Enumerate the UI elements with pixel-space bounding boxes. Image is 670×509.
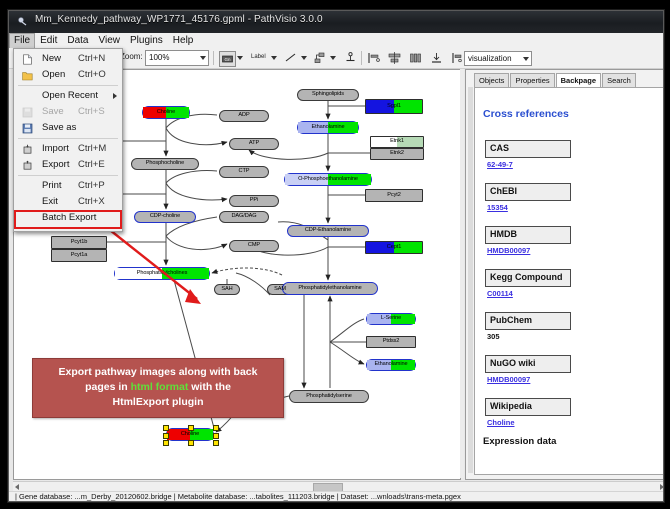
new-document-icon — [22, 54, 33, 65]
save-as-icon — [22, 123, 33, 134]
xref-db-label: ChEBI — [490, 186, 517, 196]
metabolite-node-sphingolipids[interactable]: Sphingolipids — [297, 89, 359, 101]
scroll-left-icon[interactable] — [15, 484, 19, 490]
interaction-tool-icon[interactable] — [312, 51, 327, 65]
node-label: Pcyt2 — [387, 193, 401, 199]
file-menu-popup: NewCtrl+NOpenCtrl+OOpen RecentSaveCtrl+S… — [13, 48, 123, 232]
metabolite-node-phosphocholine[interactable]: Phosphocholine — [131, 158, 199, 170]
menu-data[interactable]: Data — [62, 33, 93, 48]
zoom-value: 100% — [149, 53, 169, 62]
metabolite-node-ethanolamine2[interactable]: Ethanolamine — [366, 359, 416, 371]
menu-help[interactable]: Help — [168, 33, 199, 48]
label-dropdown-icon[interactable] — [271, 56, 277, 60]
metabolite-node-ctp[interactable]: CTP — [219, 166, 269, 178]
xref-value-pubchem: 305 — [487, 332, 500, 341]
menu-file[interactable]: File — [9, 33, 35, 48]
file-menu-item-export[interactable]: ExportCtrl+E — [14, 157, 122, 173]
file-menu-label: Batch Export — [42, 212, 96, 223]
backpage-content: Cross references CAS62-49-7ChEBI15354HMD… — [474, 87, 664, 475]
zoom-label: Zoom: — [120, 52, 143, 61]
metabolite-node-cdp-choline[interactable]: CDP-choline — [134, 211, 196, 223]
callout-line-2a: pages in — [85, 381, 131, 393]
file-menu-label: Open Recent — [42, 90, 98, 101]
group-icon[interactable] — [449, 51, 464, 65]
gene-node-pcyt2[interactable]: Pcyt2 — [365, 189, 423, 202]
visualization-combo[interactable]: visualization — [464, 51, 532, 66]
selection-handle[interactable] — [213, 425, 219, 431]
menu-plugins[interactable]: Plugins — [125, 33, 168, 48]
align-left-icon[interactable] — [366, 51, 381, 65]
chevron-down-icon — [200, 56, 206, 60]
import-icon — [22, 144, 33, 155]
export-icon — [22, 160, 33, 171]
xref-db-chebi: ChEBI — [485, 183, 571, 201]
file-menu-label: Import — [42, 143, 69, 154]
xref-value-chebi[interactable]: 15354 — [487, 203, 508, 212]
node-label: PPi — [250, 198, 258, 204]
node-label: Pcyt1b — [71, 240, 88, 246]
metabolite-node-phosphatidylserine[interactable]: Phosphatidylserine — [289, 390, 369, 403]
chevron-down-icon-2 — [523, 57, 529, 61]
node-label: Choline — [181, 432, 199, 438]
gene-node-etnk1[interactable]: Etnk1 — [370, 136, 424, 148]
node-label: Choline — [157, 110, 175, 116]
node-label: Phosphatidylserine — [306, 394, 351, 400]
node-label: CMP — [248, 243, 260, 249]
node-label: SAM — [274, 287, 286, 293]
gene-node-cept1[interactable]: Cept1 — [365, 241, 423, 254]
callout-line-3: HtmlExport plugin — [113, 396, 204, 408]
expression-data-heading: Expression data — [483, 436, 556, 447]
anchor-tool-icon[interactable] — [343, 51, 358, 65]
save-icon — [22, 107, 33, 118]
annotation-callout-text: Export pathway images along with back pa… — [39, 365, 277, 410]
node-label: Phosphatidylethanolamine — [298, 286, 361, 292]
gene-node-sgpl1[interactable]: Sgpl1 — [365, 99, 423, 114]
xref-value-kegg-compound[interactable]: C00114 — [487, 289, 513, 298]
file-menu-accelerator: Ctrl+S — [78, 106, 105, 117]
folder-open-icon — [22, 70, 33, 81]
metabolite-node-choline-top[interactable]: Choline — [142, 106, 190, 119]
xref-db-label: PubChem — [490, 315, 532, 325]
file-menu-item-open-recent[interactable]: Open Recent — [14, 88, 122, 104]
file-menu-label: Exit — [42, 196, 58, 207]
metabolite-node-ethanolamine[interactable]: Ethanolamine — [297, 121, 359, 134]
node-label: CDP-choline — [150, 214, 180, 220]
xref-value-nugo-wiki[interactable]: HMDB00097 — [487, 375, 530, 384]
selection-handle[interactable] — [213, 440, 219, 446]
callout-line-1: Export pathway images along with back — [59, 366, 258, 378]
toolbar-separator-2 — [361, 51, 362, 65]
file-menu-item-save-as[interactable]: Save as — [14, 120, 122, 136]
node-label: CTP — [239, 169, 250, 175]
label-tool-text[interactable]: Label — [251, 54, 266, 60]
xref-db-label: NuGO wiki — [490, 358, 536, 368]
menu-separator — [18, 175, 118, 176]
pathvisio-window: Mm_Kennedy_pathway_WP1771_45176.gpml - P… — [8, 10, 664, 502]
screenshot-root: Mm_Kennedy_pathway_WP1771_45176.gpml - P… — [0, 0, 670, 509]
xref-db-nugo-wiki: NuGO wiki — [485, 355, 571, 373]
window-titlebar: Mm_Kennedy_pathway_WP1771_45176.gpml - P… — [9, 11, 663, 33]
node-label: Pcyt1a — [71, 253, 88, 259]
stack-icon[interactable] — [429, 51, 444, 65]
file-menu-items: NewCtrl+NOpenCtrl+OOpen RecentSaveCtrl+S… — [14, 51, 122, 229]
file-menu-item-save: SaveCtrl+S — [14, 104, 122, 120]
sidebar-scrollbar[interactable] — [468, 87, 473, 473]
node-label: DAG/DAG — [231, 214, 256, 220]
gene-node-pcyt1b[interactable]: Pcyt1b — [51, 236, 107, 249]
node-label: Etnk2 — [390, 151, 404, 157]
xref-db-hmdb: HMDB — [485, 226, 571, 244]
node-label: Ptdss2 — [383, 339, 400, 345]
metabolite-node-l-serine[interactable]: L-Serine — [366, 313, 416, 325]
node-label: Cept1 — [387, 245, 401, 251]
gene-node-ptdss2[interactable]: Ptdss2 — [366, 336, 416, 348]
selection-handle[interactable] — [188, 440, 194, 446]
callout-line-2b: with the — [188, 381, 231, 393]
visualization-value: visualization — [468, 54, 512, 63]
xref-db-label: Kegg Compound — [490, 272, 563, 282]
xref-db-label: CAS — [490, 143, 509, 153]
xref-db-wikipedia: Wikipedia — [485, 398, 571, 416]
metabolite-node-adp[interactable]: ADP — [219, 110, 269, 122]
file-menu-item-print[interactable]: PrintCtrl+P — [14, 178, 122, 194]
file-menu-accelerator: Ctrl+M — [78, 143, 106, 154]
zoom-combo[interactable]: 100% — [145, 50, 209, 66]
line-tool-icon[interactable] — [283, 51, 298, 65]
node-label: Ethanolamine — [374, 362, 407, 368]
metabolite-node-sah[interactable]: SAH — [214, 284, 240, 295]
status-text: | Gene database: ...m_Derby_20120602.bri… — [15, 492, 461, 501]
align-center-icon[interactable] — [387, 51, 402, 65]
file-menu-label: Export — [42, 159, 69, 170]
xref-db-cas: CAS — [485, 140, 571, 158]
split-divider[interactable] — [460, 69, 464, 478]
node-label: ADP — [238, 113, 249, 119]
status-bar: | Gene database: ...m_Derby_20120602.bri… — [9, 491, 663, 502]
menu-view[interactable]: View — [93, 33, 125, 48]
selection-handle[interactable] — [188, 425, 194, 431]
distribute-icon[interactable] — [408, 51, 423, 65]
selection-handle[interactable] — [163, 440, 169, 446]
line-dropdown-icon[interactable] — [301, 56, 307, 60]
file-menu-accelerator: Ctrl+O — [78, 69, 106, 80]
xref-db-label: HMDB — [490, 229, 517, 239]
metabolite-node-cdp-ethanolamine[interactable]: CDP-Ethanolamine — [287, 225, 369, 237]
file-menu-item-new[interactable]: NewCtrl+N — [14, 51, 122, 67]
file-menu-item-open[interactable]: OpenCtrl+O — [14, 67, 122, 83]
file-menu-accelerator: Ctrl+N — [78, 53, 105, 64]
menu-edit[interactable]: Edit — [35, 33, 62, 48]
sidebar-tabs: Objects Properties Backpage Search Legen… — [474, 73, 664, 88]
datanode-dropdown-icon[interactable] — [237, 56, 243, 60]
file-menu-label: Save — [42, 106, 64, 117]
metabolite-node-atp[interactable]: ATP — [229, 138, 279, 150]
selection-handle[interactable] — [163, 433, 169, 439]
metabolite-node-ppi[interactable]: PPi — [229, 195, 279, 207]
gene-node-etnk2[interactable]: Etnk2 — [370, 148, 424, 160]
toolbar-separator — [213, 51, 214, 65]
xref-value-hmdb[interactable]: HMDB00097 — [487, 246, 530, 255]
xref-value-cas[interactable]: 62-49-7 — [487, 160, 513, 169]
chevron-right-icon — [113, 93, 117, 99]
svg-text:Gn: Gn — [224, 57, 231, 62]
metabolite-node-o-phosphoethanolamine[interactable]: O-Phosphoethanolamine — [284, 173, 372, 186]
callout-line-2-highlight: html format — [131, 381, 189, 393]
cross-references-heading: Cross references — [483, 108, 569, 120]
menu-separator — [18, 138, 118, 139]
menu-separator — [18, 85, 118, 86]
file-menu-accelerator: Ctrl+X — [78, 196, 105, 207]
selection-handle[interactable] — [163, 425, 169, 431]
node-label: O-Phosphoethanolamine — [298, 177, 358, 183]
xref-db-pubchem: PubChem — [485, 312, 571, 330]
interaction-dropdown-icon[interactable] — [330, 56, 336, 60]
file-menu-label: Print — [42, 180, 62, 191]
xref-value-wikipedia[interactable]: Choline — [487, 418, 515, 427]
node-label: Sphingolipids — [312, 92, 344, 98]
metabolite-node-cmp[interactable]: CMP — [229, 240, 279, 252]
file-menu-item-import[interactable]: ImportCtrl+M — [14, 141, 122, 157]
node-label: ATP — [249, 141, 259, 147]
file-menu-accelerator: Ctrl+P — [78, 180, 105, 191]
node-label: Phosphocholine — [146, 161, 184, 167]
file-menu-item-batch-export[interactable]: Batch Export — [14, 210, 122, 229]
file-menu-label: Save as — [42, 122, 76, 133]
metabolite-node-phosphatidylethanolamine[interactable]: Phosphatidylethanolamine — [282, 282, 378, 295]
gene-node-pcyt1a[interactable]: Pcyt1a — [51, 249, 107, 262]
node-label: Ethanolamine — [311, 125, 344, 131]
node-label: L-Serine — [381, 316, 401, 322]
node-label: Sgpl1 — [387, 104, 401, 110]
metabolite-node-phosphatidylcholines[interactable]: Phosphatidylcholines — [114, 267, 210, 280]
xref-db-kegg-compound: Kegg Compound — [485, 269, 571, 287]
file-menu-label: Open — [42, 69, 65, 80]
node-label: Etnk1 — [390, 139, 404, 145]
scroll-right-icon[interactable] — [660, 484, 664, 490]
annotation-callout: Export pathway images along with back pa… — [32, 358, 284, 418]
window-title: Mm_Kennedy_pathway_WP1771_45176.gpml - P… — [35, 14, 323, 25]
file-menu-label: New — [42, 53, 61, 64]
datanode-tool-icon[interactable]: Gn — [219, 51, 236, 67]
menu-bar: File Edit Data View Plugins Help — [9, 33, 663, 49]
node-label: SAH — [221, 287, 232, 293]
metabolite-node-dagdag[interactable]: DAG/DAG — [219, 211, 269, 223]
sidebar-panel: Objects Properties Backpage Search Legen… — [465, 69, 664, 480]
xref-db-label: Wikipedia — [490, 401, 532, 411]
file-menu-item-exit[interactable]: ExitCtrl+X — [14, 194, 122, 210]
selection-handle[interactable] — [213, 433, 219, 439]
pathvisio-icon — [17, 16, 29, 28]
file-menu-accelerator: Ctrl+E — [78, 159, 105, 170]
node-label: Phosphatidylcholines — [137, 271, 188, 277]
node-label: CDP-Ethanolamine — [305, 228, 351, 234]
